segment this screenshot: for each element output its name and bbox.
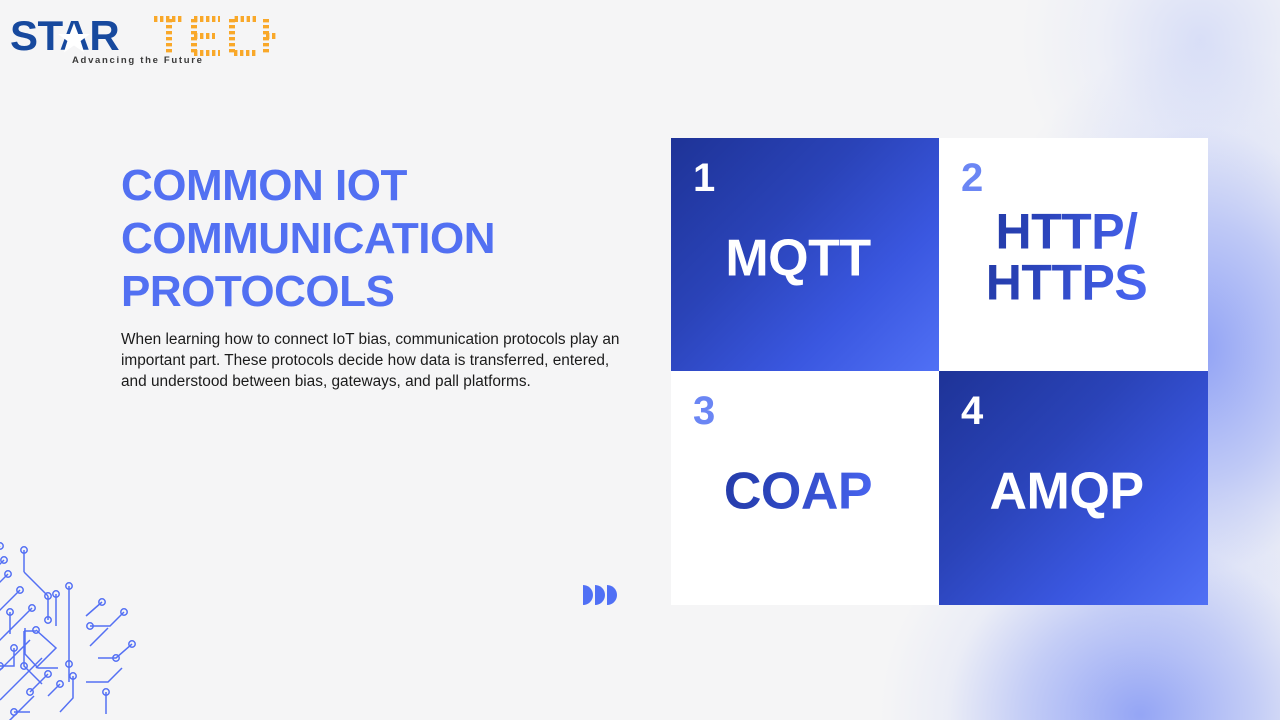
grid-cell-1[interactable]: 1 MQTT — [671, 138, 939, 371]
grid-cell-2[interactable]: 2 HTTP/ HTTPS — [939, 138, 1208, 371]
cell-label-mqtt: MQTT — [671, 232, 925, 286]
cell-label-line-1: HTTP/ — [939, 206, 1194, 258]
logo-tagline: Advancing the Future — [72, 55, 204, 66]
cell-number-3: 3 — [693, 391, 715, 431]
cell-number-2: 2 — [961, 158, 983, 198]
cell-number-4: 4 — [961, 391, 983, 431]
grid-cell-4[interactable]: 4 AMQP — [939, 371, 1208, 605]
fast-forward-arrows-icon — [582, 583, 618, 607]
circuit-board-pattern-icon — [0, 516, 170, 720]
cell-label-amqp: AMQP — [939, 466, 1194, 520]
cell-number-1: 1 — [693, 158, 715, 198]
grid-cell-3[interactable]: 3 COAP — [671, 371, 939, 605]
page-title: COMMON IOT COMMUNICATION PROTOCOLS — [121, 160, 621, 318]
body-paragraph: When learning how to connect IoT bias, c… — [121, 330, 626, 393]
cell-label-line-2: HTTPS — [939, 258, 1194, 310]
cell-label-http-https: HTTP/ HTTPS — [939, 206, 1194, 309]
slide-canvas: STAR Advancing the Future COMMON IOT COM… — [0, 0, 1280, 720]
protocol-grid: 1 MQTT 2 HTTP/ HTTPS 3 COAP 4 AMQP — [671, 138, 1208, 605]
cell-label-coap: COAP — [671, 466, 925, 520]
